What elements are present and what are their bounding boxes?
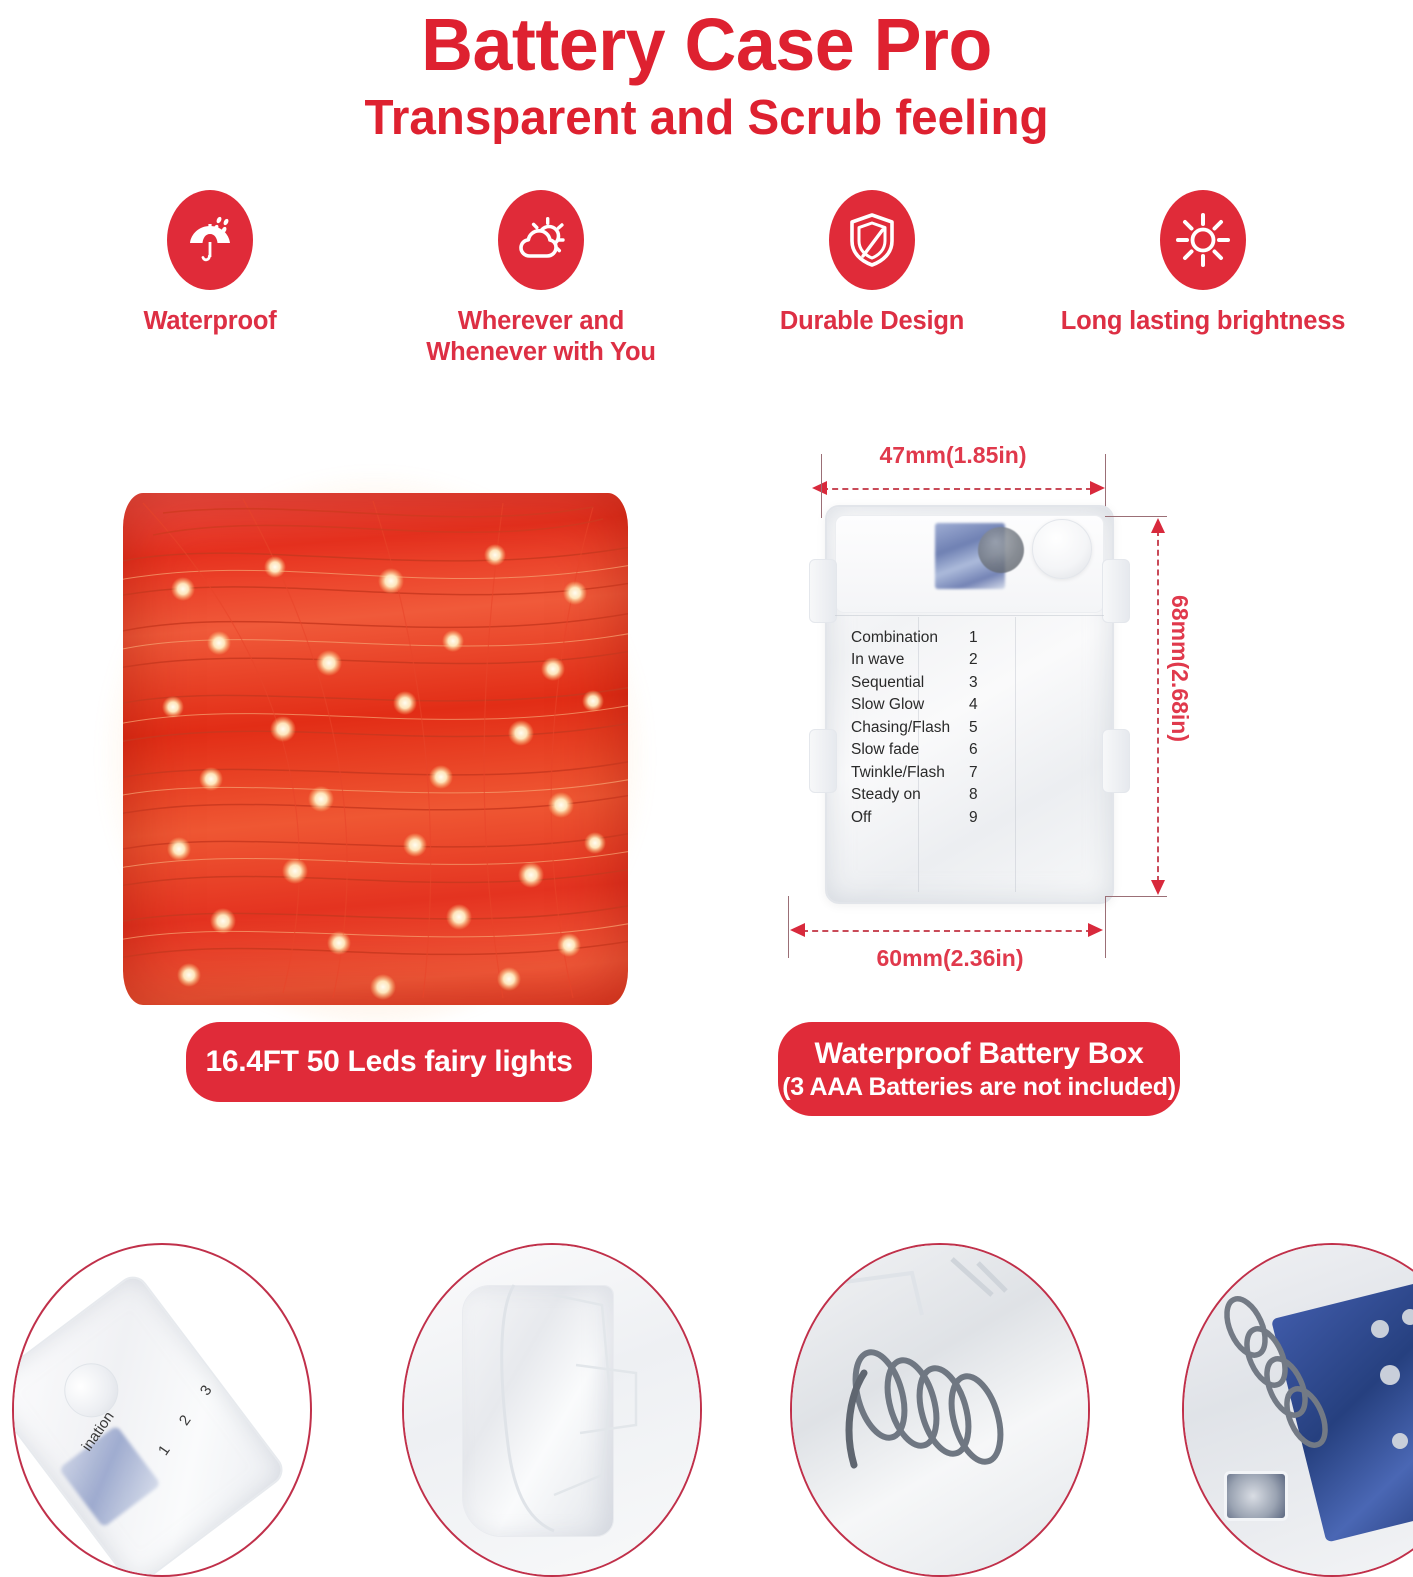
mode-number: 5 [969,717,991,739]
fairy-lights-caption-pill: 16.4FT 50 Leds fairy lights [186,1022,592,1102]
feature-label-line1: Wherever and [458,307,624,335]
sun-behind-cloud-icon [498,190,584,290]
caption-subtext: (3 AAA Batteries are not included) [782,1073,1176,1102]
mode-row: Sequential 3 [851,672,1098,694]
dimension-height-label: 68mm(2.68in) [1167,595,1193,742]
mode-name: Slow Glow [851,694,969,716]
dimension-width-label: 47mm(1.85in) [879,442,1026,468]
sun-brightness-icon [1160,190,1246,290]
mode-row: Chasing/Flash 5 [851,717,1098,739]
power-button[interactable] [1032,519,1092,579]
detail-photo-row: ination 1 2 3 [0,1243,1413,1500]
latch-icon [1102,559,1130,623]
feature-label-line2: Whenever with You [426,338,655,366]
feature-long-lasting-brightness: Long lasting brightness [1053,190,1353,368]
page-title: Battery Case Pro [21,6,1392,84]
mode-name: In wave [851,649,969,671]
feature-durable-design: Durable Design [722,190,1022,368]
caption-text: Waterproof Battery Box [815,1037,1144,1071]
mode-number: 2 [969,649,991,671]
wire-coil [123,493,628,1005]
mode-button[interactable] [978,527,1024,573]
detail-battery-case-angled: ination 1 2 3 [12,1243,312,1577]
mode-name: Chasing/Flash [851,717,969,739]
mode-row: Off 9 [851,807,1098,829]
dimension-height-line [1157,530,1159,882]
feature-label: Wherever and Whenever with You [426,306,655,368]
mode-row: In wave 2 [851,649,1098,671]
feature-label: Waterproof [143,306,276,337]
guide-line [821,454,822,518]
fairy-lights-photo [95,465,655,1025]
dimension-depth-line [802,930,1092,932]
led-window [1224,1471,1288,1521]
battery-box-caption-pill: Waterproof Battery Box (3 AAA Batteries … [778,1022,1180,1116]
mode-row: Steady on 8 [851,784,1098,806]
mode-name: Off [851,807,969,829]
mode-row: Combination 1 [851,627,1098,649]
spring-and-components [1184,1245,1413,1575]
detail-contact-spring [790,1243,1090,1577]
mode-number: 4 [969,694,991,716]
seam-line [835,615,1104,616]
mode-name: Combination [851,627,969,649]
spring-coil-icon [792,1245,1088,1575]
detail-photo [792,1245,1088,1575]
shield-icon [829,190,915,290]
dimension-arrow-left [790,923,805,937]
feature-label: Durable Design [780,306,964,337]
mode-row: Slow Glow 4 [851,694,1098,716]
dimension-arrow-right [1090,481,1105,495]
mode-name: Slow fade [851,739,969,761]
latch-icon [809,559,837,623]
feature-list: Waterproof Wherever and W [0,190,1413,368]
mode-list: Combination 1 In wave 2 Sequential 3 Slo… [851,627,1098,829]
umbrella-rain-icon [167,190,253,290]
feature-wherever-whenever: Wherever and Whenever with You [391,190,691,368]
product-infographic: Battery Case Pro Transparent and Scrub f… [0,0,1413,1500]
header: Battery Case Pro Transparent and Scrub f… [0,0,1413,146]
clip-outline [404,1245,700,1575]
feature-label: Long lasting brightness [1061,306,1345,337]
mode-number: 9 [969,807,991,829]
guide-line [1105,516,1167,517]
mode-name: Steady on [851,784,969,806]
latch-icon [1102,729,1130,793]
detail-photo: ination 1 2 3 [14,1245,310,1575]
mode-number: 6 [969,739,991,761]
page-subtitle: Transparent and Scrub feeling [21,92,1392,146]
dimension-width-line [822,488,1092,490]
detail-plastic-clip [402,1243,702,1577]
battery-box: Combination 1 In wave 2 Sequential 3 Slo… [825,505,1114,904]
battery-case-body [12,1270,289,1577]
mode-row: Twinkle/Flash 7 [851,762,1098,784]
detail-photo [404,1245,700,1575]
detail-circuit-board [1182,1243,1413,1577]
mode-number: 7 [969,762,991,784]
mode-name: Sequential [851,672,969,694]
feature-waterproof: Waterproof [60,190,360,368]
mode-row: Slow fade 6 [851,739,1098,761]
latch-icon [809,729,837,793]
dimension-arrow-right [1088,923,1103,937]
power-button [53,1352,129,1428]
mode-number: 1 [969,627,991,649]
dimension-arrow-left [812,481,827,495]
caption-text: 16.4FT 50 Leds fairy lights [205,1045,572,1079]
dimension-arrow-up [1151,518,1165,533]
mode-name: Twinkle/Flash [851,762,969,784]
mode-number: 3 [969,672,991,694]
dimension-depth-label: 60mm(2.36in) [876,945,1023,971]
guide-line [1105,896,1167,897]
detail-photo [1184,1245,1413,1575]
circuit-board [59,1425,161,1527]
mode-number: 8 [969,784,991,806]
dimension-arrow-down [1151,880,1165,895]
coil-wires [123,493,628,1005]
